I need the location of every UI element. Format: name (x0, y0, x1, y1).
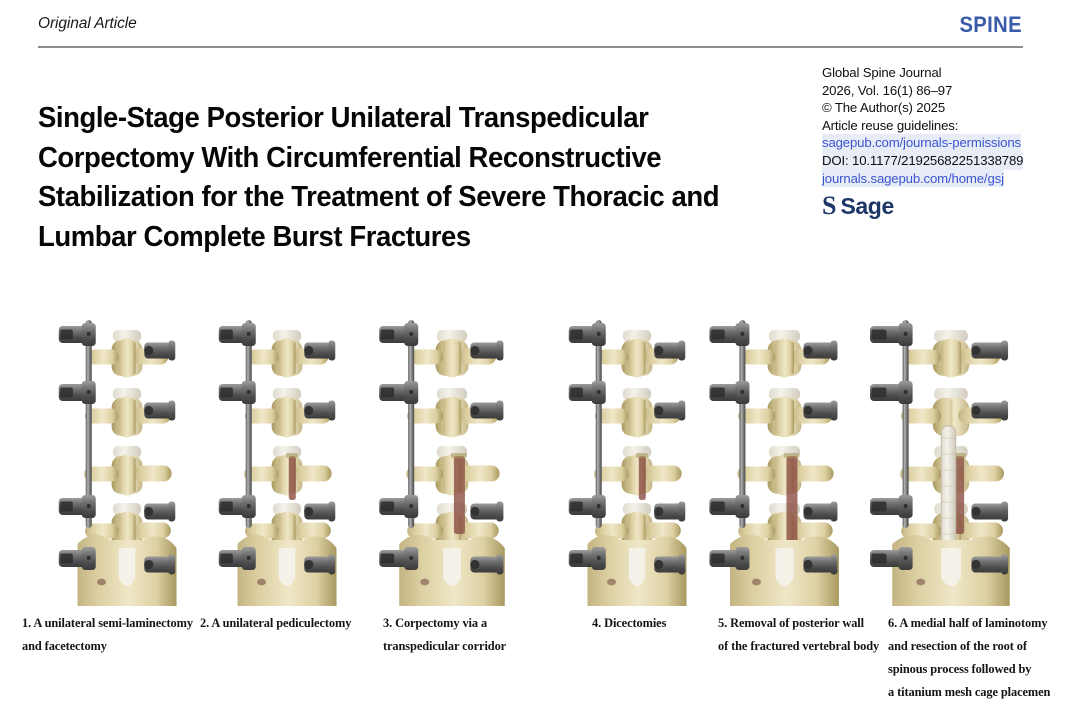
journal-home-link[interactable]: journals.sagepub.com/home/gsj (822, 170, 1004, 188)
sage-publisher-logo: S Sage (822, 193, 1072, 219)
figure-caption-row: 1. A unilateral semi-laminectomyand face… (0, 612, 1080, 712)
caption-line: a titanium mesh cage placemen (888, 681, 1050, 704)
caption-line: 2. A unilateral pediculectomy (200, 612, 351, 635)
figure-caption-3: 3. Corpectomy via atranspedicular corrid… (383, 612, 506, 658)
spine-journal-logo: SPINE (959, 12, 1022, 38)
journal-volume-pages: 2026, Vol. 16(1) 86–97 (822, 82, 1072, 100)
header-divider-rule (38, 46, 1023, 48)
caption-line: 3. Corpectomy via a (383, 612, 506, 635)
caption-line: 5. Removal of posterior wall (718, 612, 879, 635)
page-header: Original Article SPINE (0, 0, 1080, 50)
figure-caption-2: 2. A unilateral pediculectomy (200, 612, 351, 635)
page-title: Single-Stage Posterior Unilateral Transp… (38, 99, 752, 257)
caption-line: spinous process followed by (888, 658, 1050, 681)
spine-panel-5 (702, 306, 867, 606)
spine-panel-2 (212, 306, 362, 606)
doi-value[interactable]: DOI: 10.1177/21925682251338789 (822, 152, 1023, 170)
caption-line: 4. Dicectomies (592, 612, 666, 635)
article-type-label: Original Article (38, 15, 137, 33)
caption-line: and resection of the root of (888, 635, 1050, 658)
reuse-guidelines-label: Article reuse guidelines: (822, 117, 1072, 135)
caption-line: transpedicular corridor (383, 635, 506, 658)
journal-name: Global Spine Journal (822, 64, 1072, 82)
journal-copyright: © The Author(s) 2025 (822, 99, 1072, 117)
caption-line: of the fractured vertebral body (718, 635, 879, 658)
figure-caption-6: 6. A medial half of laminotomyand resect… (888, 612, 1050, 704)
caption-line: and facetectomy (22, 635, 193, 658)
figure-caption-4: 4. Dicectomies (592, 612, 666, 635)
journal-metadata-block: Global Spine Journal 2026, Vol. 16(1) 86… (822, 64, 1072, 219)
sage-wordmark: Sage (840, 195, 893, 218)
surgical-technique-figure (0, 306, 1080, 606)
spine-panel-3 (372, 306, 532, 606)
figure-caption-1: 1. A unilateral semi-laminectomyand face… (22, 612, 193, 658)
sage-s-mark-icon: S (822, 193, 835, 219)
spine-panel-4 (562, 306, 712, 606)
spine-panel-1 (52, 306, 202, 606)
figure-caption-5: 5. Removal of posterior wallof the fract… (718, 612, 879, 658)
caption-line: 6. A medial half of laminotomy (888, 612, 1050, 635)
spine-panel-6 (862, 306, 1040, 606)
caption-line: 1. A unilateral semi-laminectomy (22, 612, 193, 635)
permissions-link[interactable]: sagepub.com/journals-permissions (822, 134, 1021, 152)
